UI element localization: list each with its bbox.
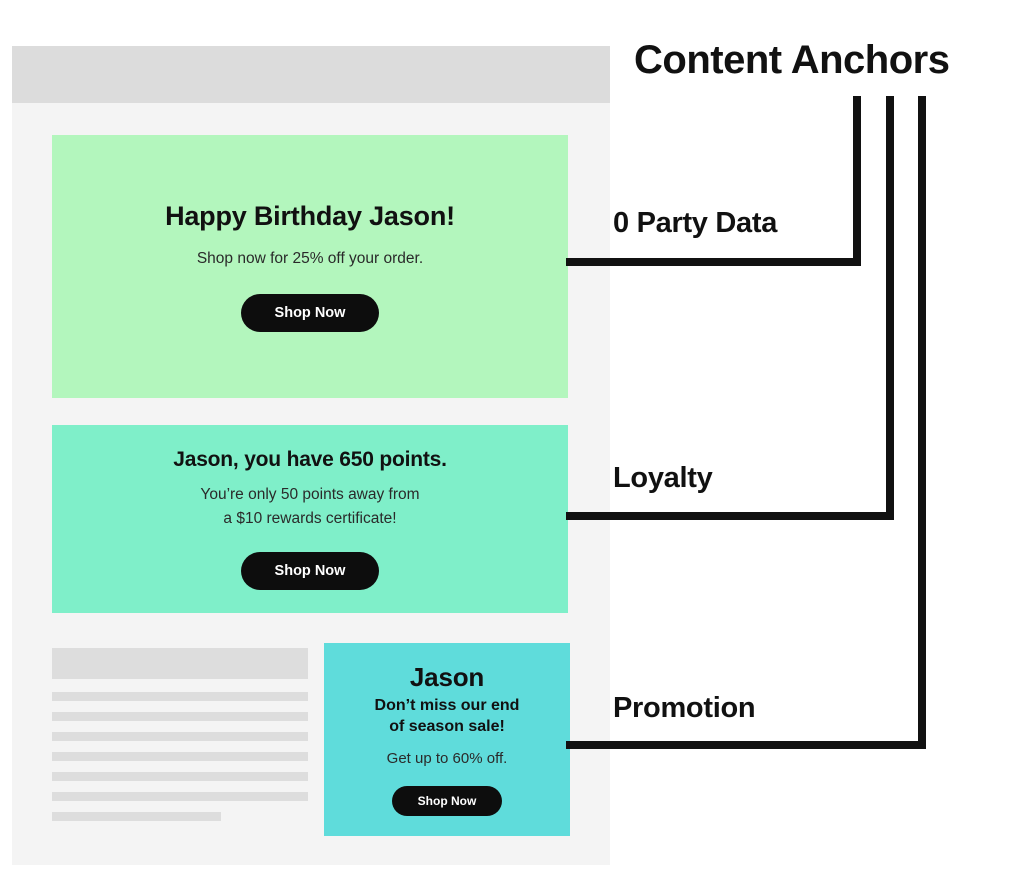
promotion-card-headline: Don’t miss our end of season sale!	[375, 695, 520, 738]
promotion-card-headline-line-2: of season sale!	[375, 716, 520, 738]
promotion-card-headline-line-1: Don’t miss our end	[375, 695, 520, 717]
connector-label-party-data: 0 Party Data	[613, 207, 777, 240]
promotion-shop-now-button[interactable]: Shop Now	[392, 786, 503, 816]
birthday-card-title: Happy Birthday Jason!	[165, 201, 455, 232]
connector-line-promotion	[566, 741, 926, 749]
connector-riser-loyalty	[886, 96, 894, 520]
loyalty-card-body: You’re only 50 points away from a $10 re…	[200, 483, 419, 531]
placeholder-line	[52, 732, 308, 741]
placeholder-hero-block	[52, 648, 308, 679]
birthday-shop-now-button[interactable]: Shop Now	[241, 294, 380, 332]
email-mockup-panel: Happy Birthday Jason! Shop now for 25% o…	[12, 46, 610, 865]
placeholder-line	[52, 752, 308, 761]
birthday-card: Happy Birthday Jason! Shop now for 25% o…	[52, 135, 568, 398]
loyalty-card: Jason, you have 650 points. You’re only …	[52, 425, 568, 613]
promotion-card-body: Get up to 60% off.	[387, 747, 508, 770]
placeholder-line-short	[52, 812, 221, 821]
connector-label-promotion: Promotion	[613, 692, 755, 725]
birthday-card-body: Shop now for 25% off your order.	[197, 247, 423, 271]
promotion-card-title: Jason	[410, 663, 484, 693]
placeholder-line	[52, 792, 308, 801]
loyalty-shop-now-button[interactable]: Shop Now	[241, 552, 380, 590]
loyalty-card-body-line-1: You’re only 50 points away from	[200, 483, 419, 507]
placeholder-line	[52, 692, 308, 701]
connector-riser-party-data	[853, 96, 861, 266]
placeholder-line	[52, 772, 308, 781]
connector-line-party-data	[566, 258, 861, 266]
connector-line-loyalty	[566, 512, 894, 520]
connector-label-loyalty: Loyalty	[613, 462, 712, 495]
diagram-canvas: Happy Birthday Jason! Shop now for 25% o…	[0, 0, 1024, 888]
promotion-card: Jason Don’t miss our end of season sale!…	[324, 643, 570, 836]
placeholder-line	[52, 712, 308, 721]
loyalty-card-title: Jason, you have 650 points.	[173, 448, 447, 472]
loyalty-card-body-line-2: a $10 rewards certificate!	[200, 507, 419, 531]
email-header-bar	[12, 46, 610, 103]
diagram-title: Content Anchors	[634, 38, 949, 83]
connector-riser-promotion	[918, 96, 926, 749]
placeholder-content-block	[52, 648, 308, 821]
